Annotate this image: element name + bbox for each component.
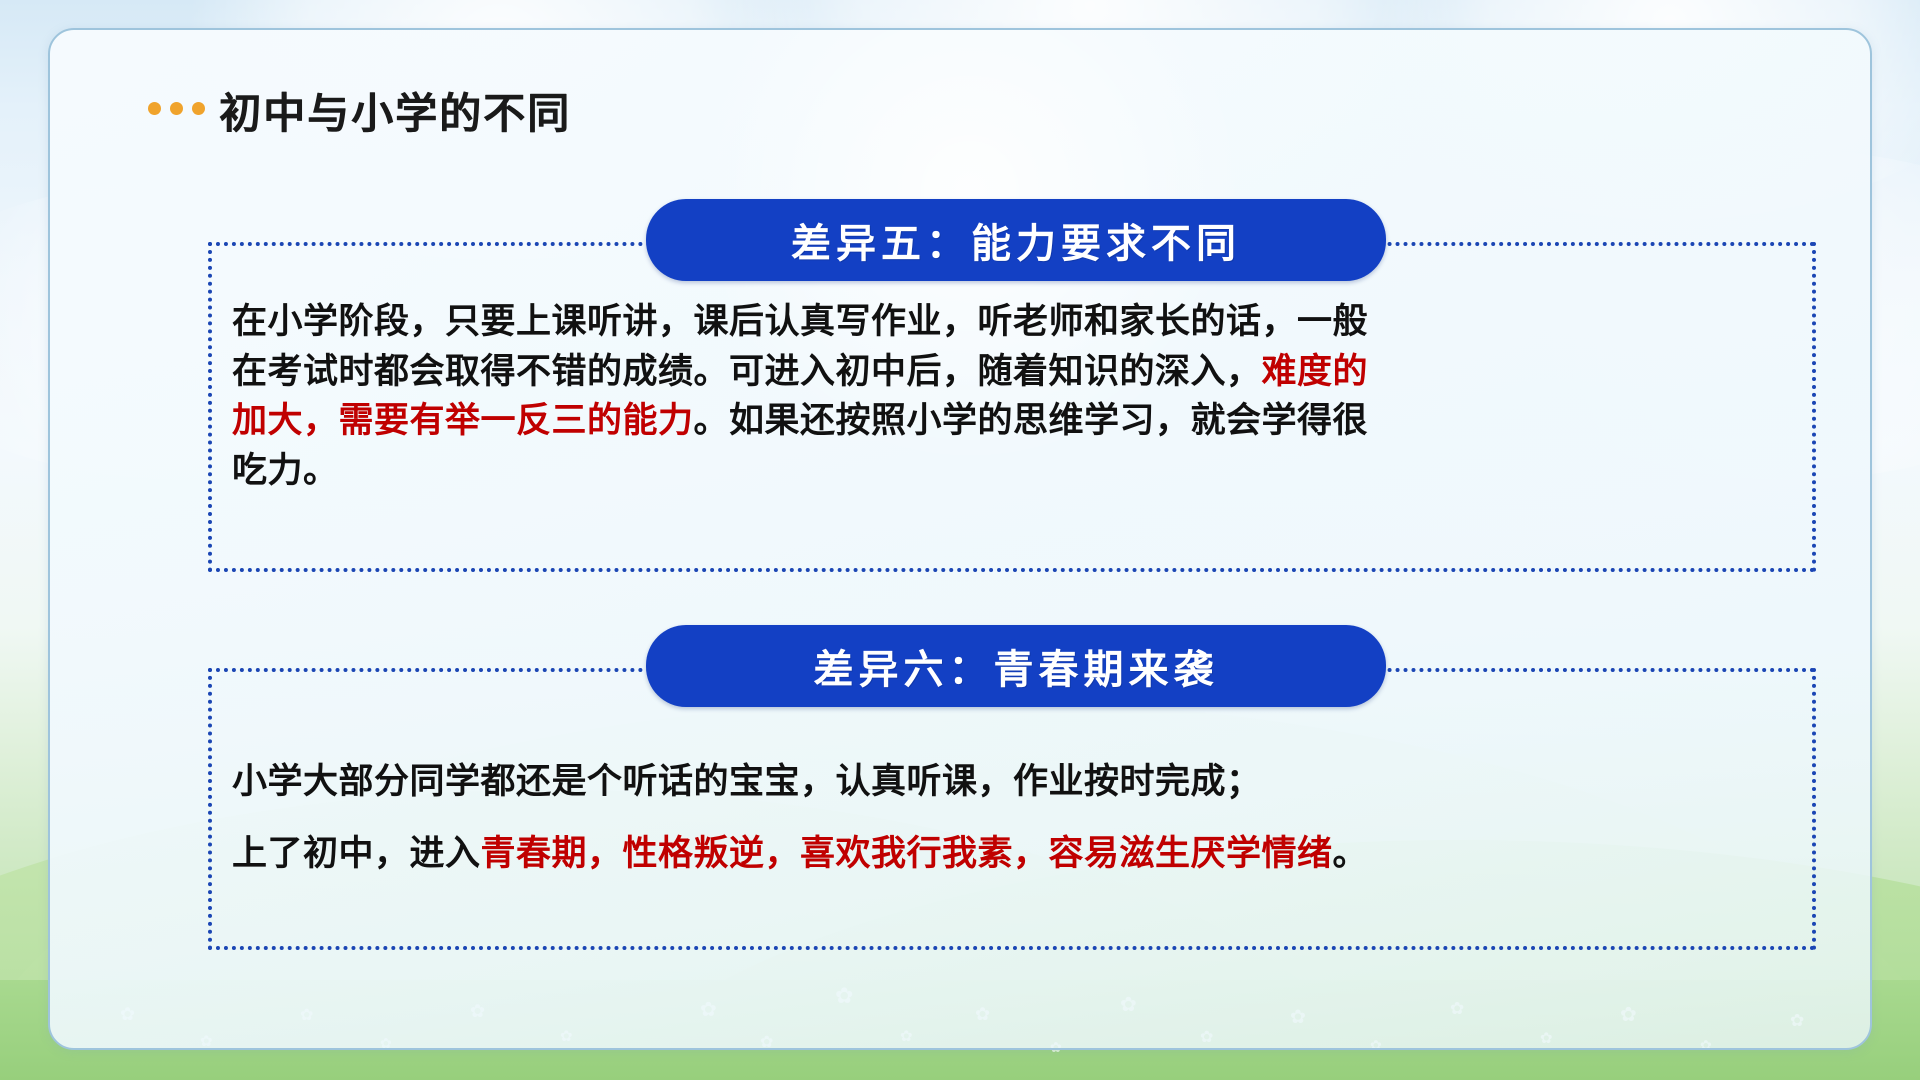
title-dot-icon xyxy=(170,102,183,115)
section-body-line: 上了初中，进入青春期，性格叛逆，喜欢我行我素，容易滋生厌学情绪。 xyxy=(232,818,1792,890)
section-body-text: 在小学阶段，只要上课听讲，课后认真写作业，听老师和家长的话，一般在考试时都会取得… xyxy=(232,297,1792,496)
section-difference-six: 差异六：青春期来袭 小学大部分同学都还是个听话的宝宝，认真听课，作业按时完成；上… xyxy=(208,668,1816,950)
section-body-line: 在小学阶段，只要上课听讲，课后认真写作业，听老师和家长的话，一般 xyxy=(232,297,1792,347)
slide-content-card: 初中与小学的不同 差异五：能力要求不同 在小学阶段，只要上课听讲，课后认真写作业… xyxy=(48,28,1872,1050)
body-text: 在小学阶段，只要上课听讲，课后认真写作业，听老师和家长的话，一般 xyxy=(232,302,1368,341)
highlighted-text: 加大，需要有举一反三的能力 xyxy=(232,401,694,440)
body-text: 。如果还按照小学的思维学习，就会学得很 xyxy=(694,401,1369,440)
title-dot-icon xyxy=(192,102,205,115)
body-text: 在考试时都会取得不错的成绩。可进入初中后，随着知识的深入， xyxy=(232,352,1262,391)
section-banner-five: 差异五：能力要求不同 xyxy=(646,199,1386,281)
page-title: 初中与小学的不同 xyxy=(219,80,571,141)
section-body-text: 小学大部分同学都还是个听话的宝宝，认真听课，作业按时完成；上了初中，进入青春期，… xyxy=(232,746,1792,890)
section-body-line: 在考试时都会取得不错的成绩。可进入初中后，随着知识的深入，难度的 xyxy=(232,347,1792,397)
slide-title-row: 初中与小学的不同 xyxy=(148,80,571,141)
section-body-line: 小学大部分同学都还是个听话的宝宝，认真听课，作业按时完成； xyxy=(232,746,1792,818)
section-banner-label: 差异五：能力要求不同 xyxy=(791,211,1241,269)
highlighted-text: 难度的 xyxy=(1262,352,1369,391)
section-body-line: 加大，需要有举一反三的能力。如果还按照小学的思维学习，就会学得很 xyxy=(232,396,1792,446)
body-text: 吃力。 xyxy=(232,451,339,490)
section-difference-five: 差异五：能力要求不同 在小学阶段，只要上课听讲，课后认真写作业，听老师和家长的话… xyxy=(208,242,1816,572)
section-body-line: 吃力。 xyxy=(232,446,1792,496)
title-bullet-dots-icon xyxy=(148,102,205,115)
section-banner-six: 差异六：青春期来袭 xyxy=(646,625,1386,707)
body-text: 。 xyxy=(1333,834,1369,873)
section-banner-label: 差异六：青春期来袭 xyxy=(814,637,1219,695)
body-text: 上了初中，进入 xyxy=(232,834,481,873)
body-text: 小学大部分同学都还是个听话的宝宝，认真听课，作业按时完成； xyxy=(232,762,1262,801)
highlighted-text: 青春期，性格叛逆，喜欢我行我素，容易滋生厌学情绪 xyxy=(481,834,1333,873)
title-dot-icon xyxy=(148,102,161,115)
